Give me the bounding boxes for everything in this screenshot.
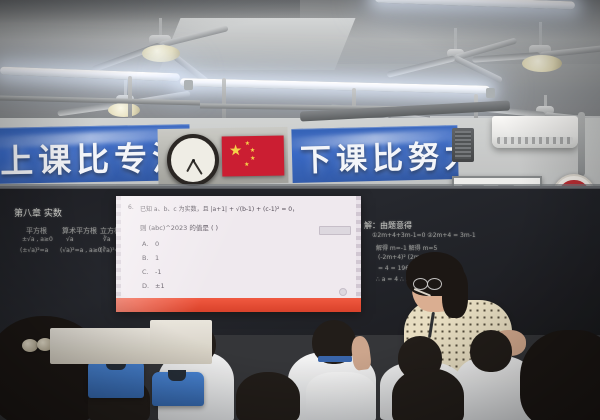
student-foreground-far-right-hair — [520, 330, 600, 420]
fan-light — [522, 55, 562, 72]
student-foreground-right-head — [392, 368, 464, 420]
projector-screen: 6. 已知 a、b、c 为实数，且 |a+1| + √(b-1) + (c-1)… — [116, 196, 361, 312]
ac-vent — [497, 137, 573, 144]
flag-star-large: ★ — [229, 143, 243, 158]
wall-speaker — [452, 128, 474, 162]
chalk-col-header: 算术平方根 — [62, 226, 97, 236]
chalk-col-line: (±√a)²=a — [20, 247, 48, 254]
fan-light — [108, 103, 140, 117]
ceiling-fan — [470, 22, 600, 66]
student-raised-hand — [350, 335, 372, 371]
flag-star-small: ★ — [244, 162, 249, 168]
chalk-col-header: 平方根 — [26, 226, 47, 236]
chalk-work-line: 解得 m=-1 解得 m=5 — [376, 243, 437, 252]
flag-star-small: ★ — [250, 156, 255, 162]
blackboard-frame-top — [0, 184, 600, 188]
chalk-heading-right: 解：由题意得 — [364, 220, 412, 231]
student-raising-hand — [306, 372, 376, 420]
chalk-work-line: = 4 = 196 — [378, 265, 409, 272]
chalk-col-line: ±√a , a≥0 — [22, 236, 53, 243]
student-collar — [318, 356, 352, 362]
teacher-glasses — [427, 278, 442, 290]
flag-star-small: ★ — [250, 148, 255, 154]
student-foreground-center-head — [236, 372, 300, 420]
banner-right: 下课比努力 — [291, 125, 458, 183]
chalk-col-line: √a — [66, 236, 74, 243]
ceiling-fan — [100, 18, 220, 58]
banner-right-text: 下课比努力 — [300, 130, 459, 179]
chalk-col-line: (√a)²=a , a≥0 — [60, 247, 102, 254]
fan-light — [142, 45, 180, 62]
chinese-flag: ★ ★ ★ ★ ★ — [222, 135, 285, 176]
classroom-photo: 上课比专注 ★ ★ ★ ★ ★ 下课比努力 — [0, 0, 600, 420]
classroom-desk — [150, 320, 212, 364]
chalk-col-line: ∛a — [103, 236, 111, 243]
teacher-hair-side — [442, 268, 468, 318]
wall-clock — [167, 134, 219, 186]
air-conditioner — [492, 116, 578, 148]
student-head — [470, 330, 512, 372]
chalk-heading-left: 第八章 实数 — [14, 206, 62, 219]
classroom-desk — [50, 328, 160, 364]
chalk-work-line: ①2m+4+3m-1=0 ②2m+4 = 3m-1 — [372, 232, 476, 239]
fluorescent-light — [180, 78, 490, 94]
